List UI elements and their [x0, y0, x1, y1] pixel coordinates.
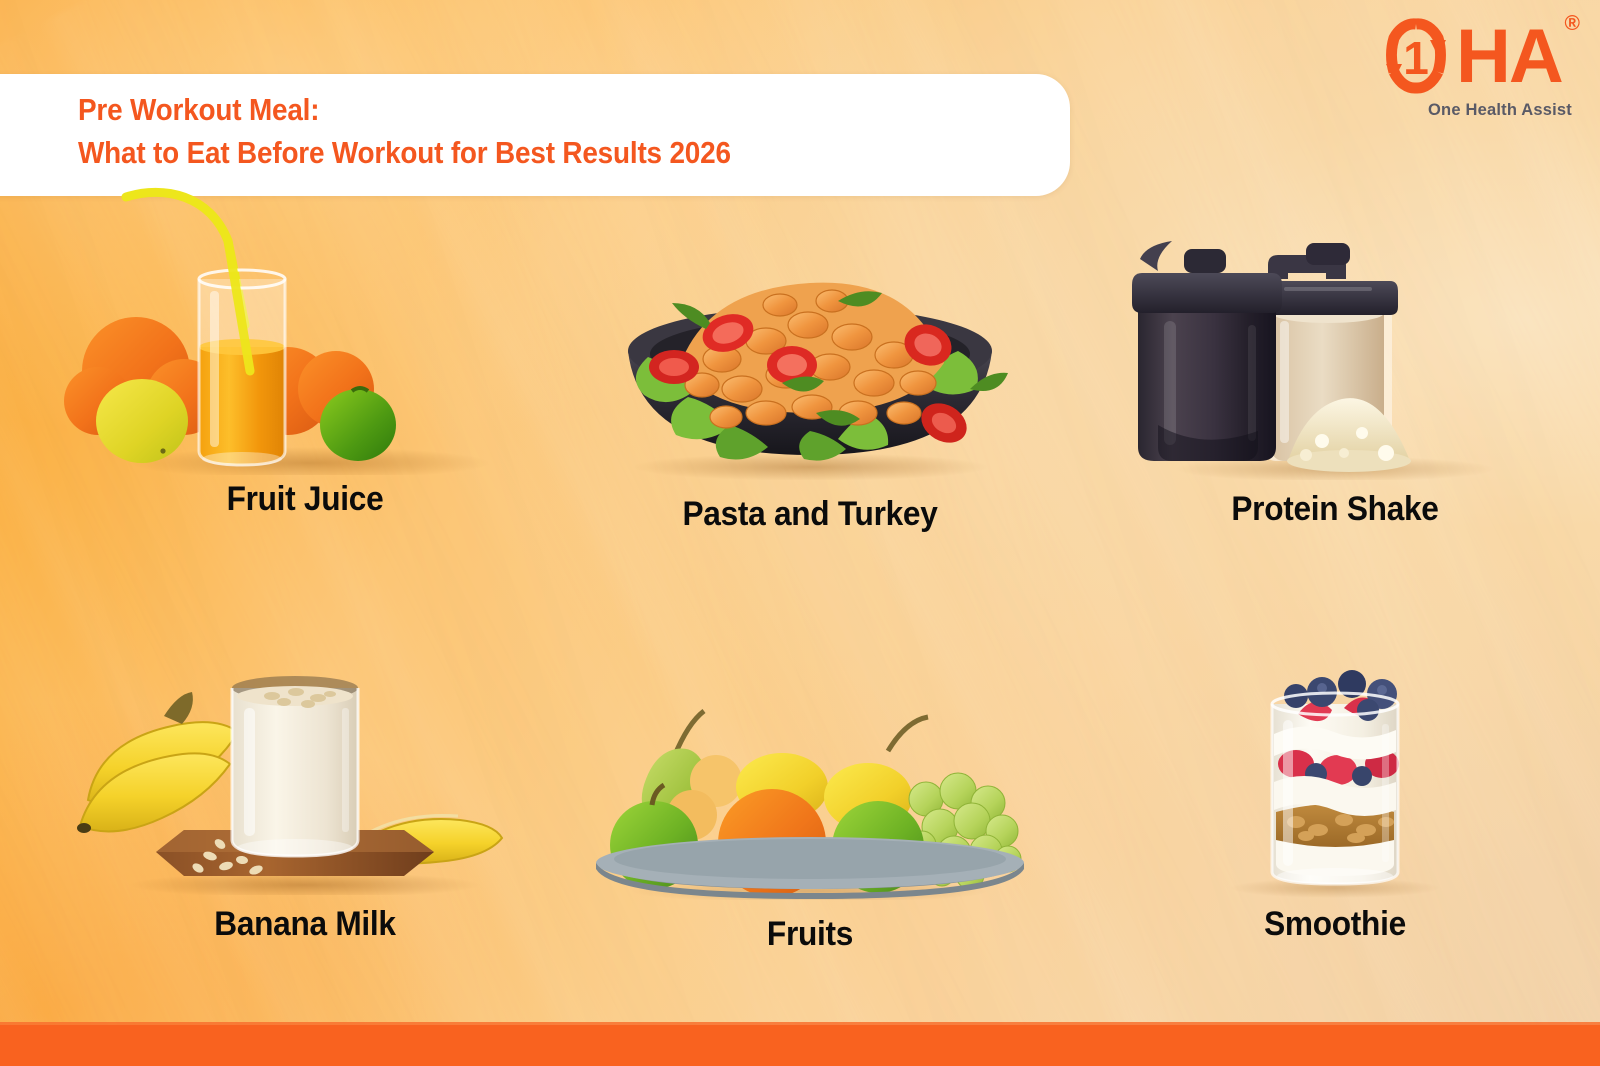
page-title-line-1: Pre Workout Meal: — [78, 88, 971, 131]
item-label-smoothie: Smoothie — [1116, 905, 1553, 944]
glass-of-orange-juice-image — [60, 175, 550, 475]
logo-tagline: One Health Assist — [1428, 101, 1572, 120]
svg-text:HA: HA — [1456, 14, 1562, 99]
svg-text:1: 1 — [1403, 32, 1429, 84]
bottom-accent-bar — [0, 1025, 1600, 1066]
bowl-of-pasta-image — [570, 255, 1050, 480]
registered-trademark-icon: ® — [1565, 12, 1580, 36]
banana-milk-glass-image — [60, 650, 550, 895]
item-banana-milk[interactable]: Banana Milk — [60, 650, 550, 965]
item-pasta-and-turkey[interactable]: Pasta and Turkey — [570, 255, 1050, 545]
fruit-platter-image — [570, 675, 1050, 900]
yogurt-parfait-glass-image — [1100, 640, 1570, 900]
item-fruit-juice[interactable]: Fruit Juice — [60, 175, 550, 545]
item-smoothie[interactable]: Smoothie — [1100, 640, 1570, 965]
item-label-pasta-and-turkey: Pasta and Turkey — [587, 495, 1033, 534]
page-title-line-2: What to Eat Before Workout for Best Resu… — [78, 131, 971, 174]
item-label-protein-shake: Protein Shake — [1116, 490, 1553, 529]
item-label-fruit-juice: Fruit Juice — [77, 480, 533, 519]
oha-logo-icon: 1 HA — [1360, 8, 1576, 104]
item-label-fruits: Fruits — [587, 915, 1033, 954]
item-label-banana-milk: Banana Milk — [77, 905, 533, 944]
item-fruits[interactable]: Fruits — [570, 675, 1050, 965]
brand-logo[interactable]: 1 HA ® One Health Assist — [1360, 8, 1576, 124]
bottom-bar-highlight — [0, 1022, 1600, 1025]
protein-shaker-bottles-image — [1100, 225, 1570, 480]
item-protein-shake[interactable]: Protein Shake — [1100, 225, 1570, 545]
